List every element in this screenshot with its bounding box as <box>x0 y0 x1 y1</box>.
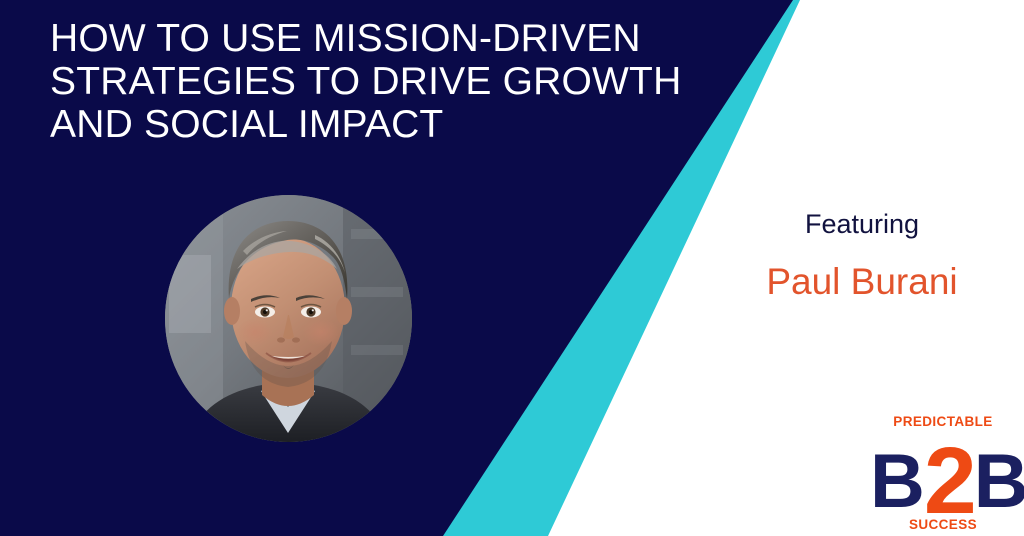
logo-word-success: SUCCESS <box>870 517 1016 532</box>
title-line-1: HOW TO USE MISSION-DRIVEN <box>50 17 710 60</box>
speaker-avatar <box>165 195 412 442</box>
webinar-promo-slide: HOW TO USE MISSION-DRIVEN STRATEGIES TO … <box>0 0 1024 536</box>
logo-letter-b-left: B <box>870 439 924 524</box>
speaker-name: Paul Burani <box>700 260 1024 304</box>
logo-letter-b-right: B <box>974 439 1024 524</box>
logo-word-predictable: PREDICTABLE <box>870 414 1016 429</box>
page-title: HOW TO USE MISSION-DRIVEN STRATEGIES TO … <box>50 17 710 146</box>
title-line-3: AND SOCIAL IMPACT <box>50 103 710 146</box>
title-line-2: STRATEGIES TO DRIVE GROWTH <box>50 60 710 103</box>
logo-b2b-mark: B2B <box>870 428 1016 523</box>
brand-logo: PREDICTABLE B2B SUCCESS <box>870 414 1016 532</box>
featuring-label: Featuring <box>700 208 1024 240</box>
headshot-image <box>165 195 412 442</box>
